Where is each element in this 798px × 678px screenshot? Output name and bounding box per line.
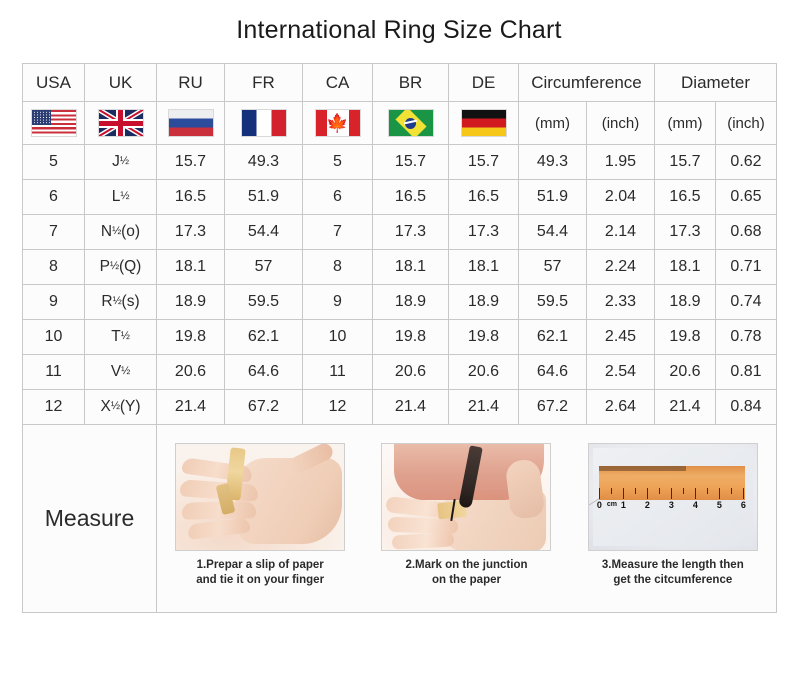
cell-usa: 9 [23,285,85,320]
uk-letter: V [111,363,121,380]
cell-dia-inch: 0.65 [716,180,777,215]
cell-fr: 59.5 [225,285,303,320]
cell-dia-mm: 18.1 [655,250,716,285]
cell-ca: 12 [303,390,373,425]
uk-letter: P [100,258,110,275]
cell-dia-inch: 0.68 [716,215,777,250]
header-ru: RU [157,64,225,102]
cell-usa: 11 [23,355,85,390]
cell-uk: X½(Y) [85,390,157,425]
measure-step-2: 2.Mark on the junction on the paper [366,443,566,588]
cell-ru: 21.4 [157,390,225,425]
measure-step-1: 1.Prepar a slip of paper and tie it on y… [160,443,360,588]
cell-usa: 6 [23,180,85,215]
step-2-line-2: on the paper [366,573,566,588]
flag-cell-ca: 🍁 [303,102,373,145]
ruler-tick-6: 6 [741,500,746,510]
table-header-row: USA UK RU FR CA BR DE Circumference Diam… [23,64,777,102]
ruler-unit-label: cm [607,501,617,508]
cell-circ-inch: 2.45 [587,320,655,355]
measure-row: Measure [23,425,777,613]
cell-circ-inch: 2.64 [587,390,655,425]
ruler-measuring-paper-photo: 0 1 2 3 4 5 6 cm [588,443,758,551]
unit-diameter-mm: (mm) [655,102,716,145]
cell-de: 21.4 [449,390,519,425]
table-row: 10 T½ 19.8 62.1 10 19.8 19.8 62.1 2.45 1… [23,320,777,355]
flag-cell-fr [225,102,303,145]
cell-circ-mm: 49.3 [519,145,587,180]
uk-alt: (Y) [120,398,141,415]
cell-uk: J½ [85,145,157,180]
cell-br: 19.8 [373,320,449,355]
ruler-ticks [599,488,745,500]
step-1-line-2: and tie it on your finger [160,573,360,588]
step-3-line-2: get the citcumference [573,573,773,588]
flag-brazil-icon [388,109,434,137]
cell-circ-inch: 2.24 [587,250,655,285]
ring-size-chart-page: International Ring Size Chart USA UK RU … [0,0,798,678]
ruler-tick-0: 0 [597,500,602,510]
measure-step-2-caption: 2.Mark on the junction on the paper [366,558,566,588]
cell-fr: 49.3 [225,145,303,180]
page-title: International Ring Size Chart [0,0,798,55]
cell-fr: 51.9 [225,180,303,215]
cell-ca: 7 [303,215,373,250]
cell-uk: V½ [85,355,157,390]
cell-circ-mm: 67.2 [519,390,587,425]
cell-fr: 57 [225,250,303,285]
cell-de: 16.5 [449,180,519,215]
uk-alt: (o) [121,223,140,240]
flag-cell-de [449,102,519,145]
cell-br: 15.7 [373,145,449,180]
cell-br: 17.3 [373,215,449,250]
ruler-numbers: 0 1 2 3 4 5 6 [595,500,751,514]
cell-dia-inch: 0.78 [716,320,777,355]
cell-uk: P½(Q) [85,250,157,285]
hand-with-paper-strip-photo [175,443,345,551]
cell-fr: 62.1 [225,320,303,355]
ruler-tick-4: 4 [693,500,698,510]
cell-uk: L½ [85,180,157,215]
flag-france-icon [241,109,287,137]
cell-uk: R½(s) [85,285,157,320]
cell-circ-mm: 57 [519,250,587,285]
uk-fraction: ½ [112,225,121,237]
cell-ru: 15.7 [157,145,225,180]
measure-steps: 1.Prepar a slip of paper and tie it on y… [157,425,777,613]
cell-dia-mm: 16.5 [655,180,716,215]
uk-letter: R [101,293,112,310]
cell-de: 17.3 [449,215,519,250]
cell-circ-inch: 2.54 [587,355,655,390]
cell-dia-inch: 0.71 [716,250,777,285]
uk-fraction: ½ [113,295,122,307]
cell-br: 21.4 [373,390,449,425]
cell-circ-mm: 62.1 [519,320,587,355]
step-2-line-1: 2.Mark on the junction [366,558,566,573]
unit-diameter-inch: (inch) [716,102,777,145]
uk-fraction: ½ [111,400,120,412]
cell-ru: 18.9 [157,285,225,320]
flag-cell-br [373,102,449,145]
table-row: 12 X½(Y) 21.4 67.2 12 21.4 21.4 67.2 2.6… [23,390,777,425]
cell-de: 15.7 [449,145,519,180]
header-fr: FR [225,64,303,102]
cell-ru: 18.1 [157,250,225,285]
cell-fr: 67.2 [225,390,303,425]
cell-usa: 5 [23,145,85,180]
ruler-tick-2: 2 [645,500,650,510]
cell-dia-inch: 0.81 [716,355,777,390]
cell-circ-inch: 2.33 [587,285,655,320]
measure-step-1-caption: 1.Prepar a slip of paper and tie it on y… [160,558,360,588]
cell-dia-mm: 17.3 [655,215,716,250]
cell-circ-mm: 51.9 [519,180,587,215]
flag-usa-icon [31,109,77,137]
ring-size-table: USA UK RU FR CA BR DE Circumference Diam… [22,63,777,613]
header-uk: UK [85,64,157,102]
cell-circ-inch: 2.04 [587,180,655,215]
measure-step-3-caption: 3.Measure the length then get the citcum… [573,558,773,588]
uk-letter: N [101,223,112,240]
flag-germany-icon [461,109,507,137]
cell-ca: 9 [303,285,373,320]
measure-step-3: 0 1 2 3 4 5 6 cm [573,443,773,588]
step-3-line-1: 3.Measure the length then [573,558,773,573]
cell-usa: 7 [23,215,85,250]
table-row: 8 P½(Q) 18.1 57 8 18.1 18.1 57 2.24 18.1… [23,250,777,285]
cell-dia-inch: 0.84 [716,390,777,425]
flag-russia-icon [168,109,214,137]
uk-fraction: ½ [110,260,119,272]
cell-ru: 17.3 [157,215,225,250]
cell-usa: 10 [23,320,85,355]
cell-circ-mm: 59.5 [519,285,587,320]
header-de: DE [449,64,519,102]
header-usa: USA [23,64,85,102]
cell-uk: N½(o) [85,215,157,250]
uk-fraction: ½ [120,155,129,167]
header-diameter: Diameter [655,64,777,102]
table-row: 9 R½(s) 18.9 59.5 9 18.9 18.9 59.5 2.33 … [23,285,777,320]
cell-de: 18.1 [449,250,519,285]
flag-uk-icon [98,109,144,137]
ruler-tick-3: 3 [669,500,674,510]
cell-ru: 16.5 [157,180,225,215]
cell-usa: 8 [23,250,85,285]
cell-dia-mm: 20.6 [655,355,716,390]
cell-ru: 19.8 [157,320,225,355]
cell-fr: 54.4 [225,215,303,250]
uk-alt: (Q) [119,258,141,275]
cell-ca: 10 [303,320,373,355]
flag-cell-ru [157,102,225,145]
cell-ru: 20.6 [157,355,225,390]
cell-uk: T½ [85,320,157,355]
table-row: 11 V½ 20.6 64.6 11 20.6 20.6 64.6 2.54 2… [23,355,777,390]
header-circumference: Circumference [519,64,655,102]
unit-circumference-inch: (inch) [587,102,655,145]
cell-ca: 5 [303,145,373,180]
measure-label: Measure [23,425,157,613]
table-row: 5 J½ 15.7 49.3 5 15.7 15.7 49.3 1.95 15.… [23,145,777,180]
cell-circ-inch: 1.95 [587,145,655,180]
cell-dia-mm: 19.8 [655,320,716,355]
unit-circumference-mm: (mm) [519,102,587,145]
cell-br: 18.1 [373,250,449,285]
table-row: 6 L½ 16.5 51.9 6 16.5 16.5 51.9 2.04 16.… [23,180,777,215]
header-br: BR [373,64,449,102]
cell-dia-mm: 15.7 [655,145,716,180]
uk-fraction: ½ [121,365,130,377]
ruler-tick-1: 1 [621,500,626,510]
uk-letter: X [101,398,111,415]
cell-circ-mm: 54.4 [519,215,587,250]
step-1-line-1: 1.Prepar a slip of paper [160,558,360,573]
cell-br: 16.5 [373,180,449,215]
flag-cell-usa [23,102,85,145]
table-row: 7 N½(o) 17.3 54.4 7 17.3 17.3 54.4 2.14 … [23,215,777,250]
cell-de: 19.8 [449,320,519,355]
table-flag-row: 🍁 (mm) (inch) (mm) (inch) [23,102,777,145]
flag-canada-icon: 🍁 [315,109,361,137]
ruler-tick-5: 5 [717,500,722,510]
cell-ca: 6 [303,180,373,215]
uk-fraction: ½ [120,190,129,202]
marking-junction-on-paper-photo [381,443,551,551]
cell-dia-inch: 0.62 [716,145,777,180]
cell-dia-mm: 21.4 [655,390,716,425]
cell-circ-inch: 2.14 [587,215,655,250]
cell-circ-mm: 64.6 [519,355,587,390]
cell-dia-inch: 0.74 [716,285,777,320]
cell-br: 18.9 [373,285,449,320]
uk-fraction: ½ [121,330,130,342]
cell-usa: 12 [23,390,85,425]
cell-fr: 64.6 [225,355,303,390]
cell-ca: 11 [303,355,373,390]
cell-ca: 8 [303,250,373,285]
cell-de: 20.6 [449,355,519,390]
cell-dia-mm: 18.9 [655,285,716,320]
header-ca: CA [303,64,373,102]
cell-br: 20.6 [373,355,449,390]
uk-letter: J [112,153,120,170]
cell-de: 18.9 [449,285,519,320]
uk-alt: (s) [122,293,140,310]
uk-letter: T [111,328,120,345]
flag-cell-uk [85,102,157,145]
